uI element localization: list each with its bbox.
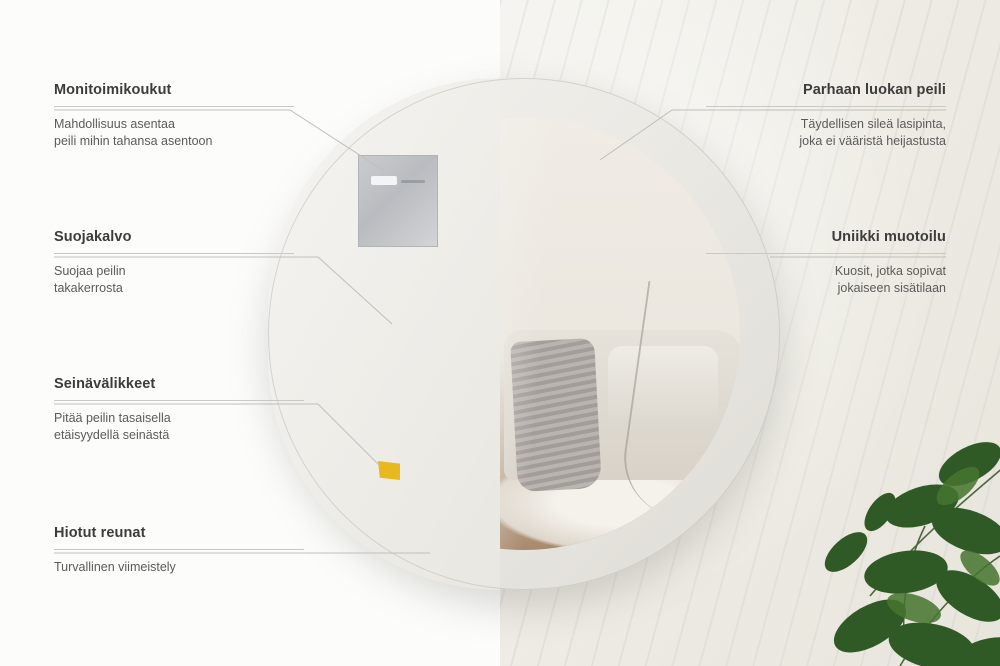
callout-divider (54, 253, 294, 254)
callout-description: Pitää peilin tasaisella etäisyydellä sei… (54, 410, 304, 444)
hook-plate (358, 155, 438, 247)
callout-title: Parhaan luokan peili (706, 82, 946, 98)
callout-title: Monitoimikoukut (54, 82, 294, 98)
callout-title: Suojakalvo (54, 229, 294, 245)
callout-description: Turvallinen viimeistely (54, 559, 304, 576)
callout-divider (54, 549, 304, 550)
callout-hiotut-reunat: Hiotut reunat Turvallinen viimeistely (54, 525, 304, 576)
callout-title: Seinävälikkeet (54, 376, 304, 392)
wall-spacer-chip (378, 461, 400, 480)
callout-title: Uniikki muotoilu (706, 229, 946, 245)
callout-divider (54, 400, 304, 401)
callout-divider (706, 253, 946, 254)
callout-title: Hiotut reunat (54, 525, 304, 541)
mirror-edge (268, 78, 780, 590)
callout-uniikki-muotoilu: Uniikki muotoilu Kuosit, jotka sopivat j… (706, 229, 946, 297)
callout-divider (54, 106, 294, 107)
callout-description: Suojaa peilin takakerrosta (54, 263, 294, 297)
callout-seinavalikkeet: Seinävälikkeet Pitää peilin tasaisella e… (54, 376, 304, 444)
callout-description: Mahdollisuus asentaa peili mihin tahansa… (54, 116, 294, 150)
callout-parhaan-luokan-peili: Parhaan luokan peili Täydellisen sileä l… (706, 82, 946, 150)
callout-description: Kuosit, jotka sopivat jokaiseen sisätila… (706, 263, 946, 297)
callout-suojakalvo: Suojakalvo Suojaa peilin takakerrosta (54, 229, 294, 297)
callout-divider (706, 106, 946, 107)
callout-monitoimikoukut: Monitoimikoukut Mahdollisuus asentaa pei… (54, 82, 294, 150)
round-mirror (268, 78, 780, 590)
callout-description: Täydellisen sileä lasipinta, joka ei vää… (706, 116, 946, 150)
product-infographic: Monitoimikoukut Mahdollisuus asentaa pei… (0, 0, 1000, 666)
hook-bar-icon (401, 180, 425, 183)
hook-slot-icon (371, 176, 397, 185)
